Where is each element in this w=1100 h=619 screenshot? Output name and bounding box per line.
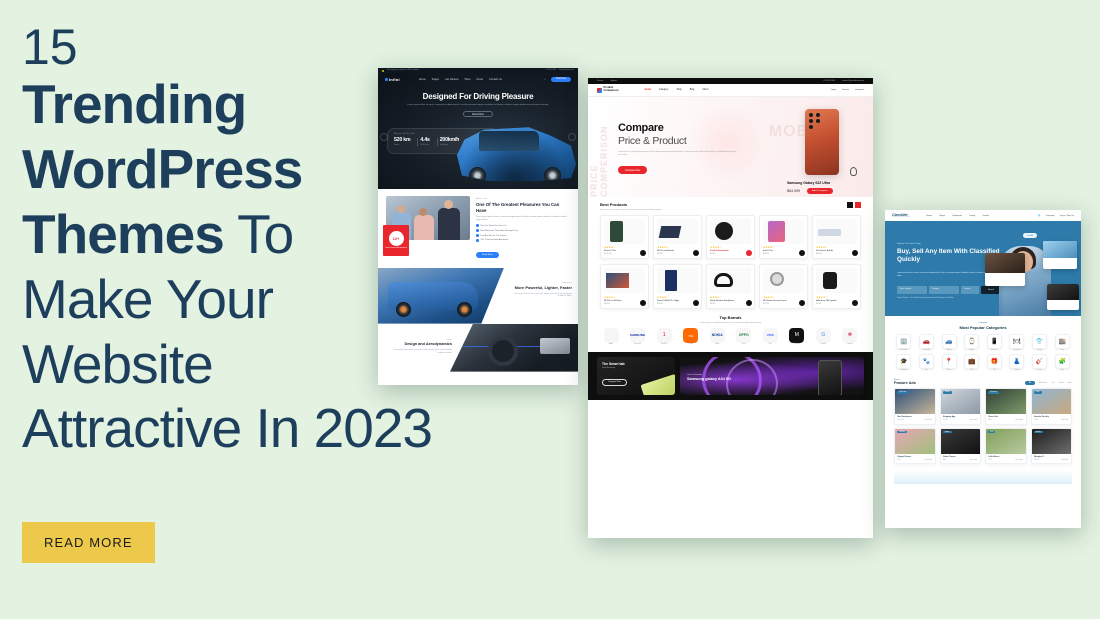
- filter-chip[interactable]: Music: [1068, 382, 1072, 384]
- feature-ad-title: Resto Cafe: [989, 416, 1024, 418]
- feature-ad-tag: Pets: [988, 431, 995, 434]
- search-category-select[interactable]: Category: [929, 286, 959, 294]
- feature-ad-price: $45,000: [1034, 460, 1039, 461]
- feature-ads-filters[interactable]: All Electronics Cars Hotels Music: [1025, 381, 1072, 386]
- cursor-icon: [850, 167, 857, 176]
- best-products-row-2: ★★★★☆MI 108 cm 5A Series$30,999 ★★★★☆Xia…: [600, 264, 861, 309]
- brand-name: Huawei: [839, 344, 861, 345]
- feature-ad-action[interactable]: View Details: [970, 420, 978, 421]
- phone-camera-icon: [809, 113, 821, 129]
- brand-item[interactable]: Apple: [600, 328, 622, 346]
- product-image: [816, 219, 857, 244]
- search-keyword-input[interactable]: Enter Keyword: [897, 286, 927, 294]
- feature-ad-image: Leisure: [941, 429, 981, 454]
- product-name: Infinity Wireless Headphones: [710, 300, 751, 302]
- product-price: $64,990: [657, 253, 698, 255]
- product-price: $2,380: [816, 303, 857, 305]
- category-item[interactable]: 🧩Other: [1052, 354, 1072, 371]
- test-drive-button[interactable]: Test Drive: [551, 77, 571, 82]
- cart-icon[interactable]: [746, 300, 752, 306]
- category-item[interactable]: 🏢Real Estate: [894, 334, 914, 351]
- brand-item[interactable]: miXiaomi: [680, 328, 702, 346]
- car-performance-image: [378, 268, 504, 324]
- hero-listing-card: [1043, 241, 1077, 269]
- car-performance-section: Performance More Powerful, Lighter, Fast…: [378, 268, 578, 324]
- cart-icon[interactable]: [693, 250, 699, 256]
- category-item[interactable]: 🎸Leisure: [1030, 354, 1050, 371]
- compare-search-link[interactable]: Search: [842, 89, 849, 91]
- car-interior-eyebrow: Interior: [390, 339, 452, 341]
- promo-phone-eyebrow: Launch Tomorrow: [687, 374, 731, 376]
- cart-icon[interactable]: [640, 250, 646, 256]
- car-about-section: About Us One Of The Greatest Pleasures Y…: [378, 189, 578, 266]
- classified-hero-text: Lorem ipsum dolor sit amet, consectetur …: [897, 272, 993, 278]
- classified-navbar[interactable]: ClassiNetCLASSIFIED ADS Home Pages Categ…: [885, 210, 1081, 221]
- cart-icon[interactable]: [852, 300, 858, 306]
- product-card[interactable]: ★★★★☆MI 108 cm 5A Series$30,999: [600, 264, 649, 309]
- category-item[interactable]: 🚙Vehicles: [939, 334, 959, 351]
- product-image: [657, 219, 698, 244]
- feature-ad-image: Restaurant: [986, 389, 1026, 414]
- promo-tab-card[interactable]: The Smart tab From Samsung Compare Now: [597, 357, 675, 395]
- feature-ad-image: Vehicles: [1032, 429, 1072, 454]
- category-name: Leisure: [1030, 370, 1050, 371]
- classified-logo[interactable]: ClassiNetCLASSIFIED ADS: [892, 213, 911, 218]
- promo-tab-title: The Smart tab: [602, 362, 670, 366]
- feature-ad-title: Nice Residences: [898, 416, 933, 418]
- category-icon: 🍽: [1009, 334, 1024, 349]
- product-price: $64,999: [763, 253, 804, 255]
- compare-compare-link[interactable]: Compare: [855, 89, 864, 91]
- classified-nav-item[interactable]: Listing: [969, 215, 975, 217]
- car-stat: 200km/hTop Speed: [440, 137, 464, 146]
- product-rating: ★★★★☆: [816, 246, 857, 249]
- brand-item[interactable]: SAMSUNGSamsung: [627, 328, 649, 346]
- brand-name: Vivo: [759, 344, 781, 345]
- classified-footer-band: [894, 470, 1072, 484]
- compare-topbar-mail: contact@yourdomain.com: [842, 80, 864, 82]
- feature-ad-card[interactable]: PetsLittle Kittens$250View Details: [985, 428, 1027, 465]
- product-card[interactable]: ★★★★☆Star Inverter Split Ac$41,990: [812, 215, 861, 260]
- category-name: Gift: [985, 370, 1005, 371]
- feature-ad-title: Shopping App: [943, 416, 978, 418]
- compare-topbar-phone: +1 86 000 000: [823, 80, 835, 82]
- compare-nav-item[interactable]: Blog: [690, 89, 695, 91]
- brand-name: Nokia: [706, 344, 728, 345]
- compare-logo-line2: Comparison: [604, 89, 619, 92]
- car-about-list-item: Fast And Secure Car Service: [476, 234, 570, 237]
- car-nav-item[interactable]: Home: [419, 78, 426, 81]
- feature-ad-card[interactable]: LeisureGuitar Classes$300View Details: [940, 428, 982, 465]
- headline-number: 15: [22, 22, 542, 72]
- product-name: MI 108 cm 5A Series: [604, 300, 645, 302]
- product-card[interactable]: ★★★★☆iPhone 13 Pro$1,29,900: [600, 215, 649, 260]
- product-price: $12,999: [763, 303, 804, 305]
- category-item[interactable]: 🎓Education: [894, 354, 914, 371]
- category-name: Jobs: [962, 370, 982, 371]
- car-stat-value: 200km/h: [440, 137, 459, 143]
- cart-icon[interactable]: [746, 250, 752, 256]
- car-about-text: Lorem ipsum dolor sit amet, consectetur …: [476, 216, 570, 222]
- brand-item[interactable]: MMotorola: [786, 328, 808, 346]
- feature-ad-price: $250: [989, 460, 992, 461]
- product-image: [710, 268, 751, 293]
- car-stat-label: 0-100 km/h: [420, 144, 429, 146]
- compare-topbar-item[interactable]: Service: [597, 80, 603, 82]
- top-brands-title: Top Brands: [600, 315, 861, 320]
- product-name: Ipad 14 Pro: [763, 250, 804, 252]
- category-item[interactable]: 👕Laundry: [1030, 334, 1050, 351]
- categories-grid: 🏢Real Estate 🚗Cars & Bids 🚙Vehicles ⌚Gad…: [894, 334, 1072, 371]
- category-name: Other: [1052, 370, 1072, 371]
- car-topbar-text: Free shipping on orders over $200 worldw…: [387, 70, 419, 71]
- feature-ad-price: $1,200: [943, 420, 947, 421]
- category-item[interactable]: 🎁Gift: [985, 354, 1005, 371]
- brand-icon: 1: [657, 328, 672, 343]
- feature-ad-action[interactable]: View Details: [970, 460, 978, 461]
- brand-name: Apple: [600, 344, 622, 345]
- feature-ad-tag: Services: [943, 391, 953, 394]
- car-nav-list[interactable]: Home Pages Car Review Shop News Contact …: [419, 78, 502, 81]
- car-nav-item[interactable]: News: [477, 78, 484, 81]
- product-image: [657, 268, 698, 293]
- feature-ad-action[interactable]: View Details: [1015, 420, 1023, 421]
- promo-tab-sub: From Samsung: [602, 367, 670, 369]
- compare-hero: PRICE COMPERISON MOBILE ComparePrice & P…: [588, 97, 873, 197]
- category-icon: 🧩: [1055, 354, 1070, 369]
- car-interior-section: Interior Design and Aerodynamics Lorem i…: [378, 324, 578, 372]
- compare-featured-phone-image: [805, 109, 839, 175]
- search-button[interactable]: Search: [981, 286, 1001, 294]
- add-to-compare-button[interactable]: Add To Compare: [807, 188, 833, 194]
- product-image: [604, 219, 645, 244]
- filter-chip[interactable]: Cars: [1051, 382, 1055, 384]
- brand-item[interactable]: vivoVivo: [759, 328, 781, 346]
- category-icon: 💼: [964, 354, 979, 369]
- feature-ad-price: $300: [943, 460, 946, 461]
- brand-name: Oppo: [733, 344, 755, 345]
- best-products-section: Best Products Lorem ipsum is simply dumm…: [588, 197, 873, 309]
- product-image: [763, 268, 804, 293]
- compare-nav-item[interactable]: Shop: [676, 89, 681, 91]
- compare-topbar-item[interactable]: Support: [610, 80, 617, 82]
- category-name: Vehicles: [939, 350, 959, 351]
- product-rating: ★★★★☆: [763, 296, 804, 299]
- feature-ad-image: Gift Shop: [895, 429, 935, 454]
- category-icon: 🐾: [919, 354, 934, 369]
- feature-ad-image: Services: [941, 389, 981, 414]
- category-item[interactable]: 🚗Cars & Bids: [917, 334, 937, 351]
- car-nav-item[interactable]: Shop: [464, 78, 470, 81]
- car-stat: 520 kmRange: [394, 137, 415, 146]
- car-about-list-item: 24/7 Premium Road Assistance: [476, 239, 570, 242]
- product-card[interactable]: ★★★★☆boAt Stone 180 Speaker$2,380: [812, 264, 861, 309]
- feature-ad-card[interactable]: Gift ShopElegant Flowers$120View Details: [894, 428, 936, 465]
- car-about-copy: About Us One Of The Greatest Pleasures Y…: [476, 196, 570, 260]
- category-name: Real Estate: [894, 350, 914, 351]
- classified-feature-ads-section: Browse Feature Ads All Electronics Cars …: [885, 376, 1081, 470]
- category-icon: 🚗: [919, 334, 934, 349]
- car-stat: 4.4s0-100 km/h: [420, 137, 434, 146]
- compare-nav-item[interactable]: About: [702, 89, 708, 91]
- brand-item[interactable]: GGoogle: [812, 328, 834, 346]
- filter-chip[interactable]: Electronics: [1039, 382, 1047, 384]
- brand-name: Google: [812, 344, 834, 345]
- product-card[interactable]: ★★★★☆Infinity Wireless Headphones$8,380: [706, 264, 755, 309]
- promo-tab-cta[interactable]: Compare Now: [602, 379, 627, 386]
- promo-phone-title: Samsung galaxy A34 5G: [687, 377, 731, 381]
- cart-icon[interactable]: [799, 300, 805, 306]
- car-performance-text: Lorem ipsum dolor sit amet consectetur a…: [510, 293, 572, 298]
- brand-icon: vivo: [763, 328, 778, 343]
- car-logo-text: Infini: [389, 77, 400, 82]
- product-price: $1,29,900: [604, 253, 645, 255]
- feature-ad-action[interactable]: View Details: [924, 420, 932, 421]
- compare-hero-title-bold: Compare: [618, 122, 664, 134]
- brand-icon: mi: [683, 328, 698, 343]
- carousel-next-icon[interactable]: [568, 133, 576, 141]
- feature-ad-tag: Vehicles: [1034, 431, 1044, 434]
- compare-nav-item[interactable]: Home: [645, 89, 651, 91]
- best-products-row-1: ★★★★☆iPhone 13 Pro$1,29,900 ★★★★☆HP Vict…: [600, 215, 861, 260]
- promo-tab-image: [640, 374, 675, 395]
- feature-ad-price: $120: [898, 460, 901, 461]
- car-navbar[interactable]: Infini Home Pages Car Review Shop News C…: [378, 73, 578, 85]
- headline-line-3-light: To: [224, 203, 293, 265]
- category-item[interactable]: 🐾Pets: [917, 354, 937, 371]
- compare-hero-title: ComparePrice & Product: [618, 122, 738, 147]
- filter-chip[interactable]: Hotels: [1059, 382, 1064, 384]
- category-icon: 👕: [1032, 334, 1047, 349]
- feature-ads-title: Feature Ads: [894, 381, 916, 385]
- product-name: HK Xiaomi Security Camera: [763, 300, 804, 302]
- product-card[interactable]: ★★★★☆Pro Bolt Smartwatch$4,380: [706, 215, 755, 260]
- compare-logo[interactable]: ProductComparison: [597, 87, 619, 93]
- car-wheel: [544, 167, 561, 184]
- product-name: Pro Bolt Smartwatch: [710, 250, 751, 252]
- category-icon: 🏬: [1055, 334, 1070, 349]
- cart-icon[interactable]: [640, 300, 646, 306]
- category-icon: 🏢: [896, 334, 911, 349]
- category-item[interactable]: 📱Electronics: [985, 334, 1005, 351]
- login-signup-link[interactable]: Log In / Sign Up: [1060, 215, 1074, 217]
- feature-ad-title: Wrangler Jl: [1034, 456, 1069, 458]
- feature-ad-card[interactable]: RestaurantResto Cafe$850View Details: [985, 388, 1027, 425]
- brand-item[interactable]: ✻Huawei: [839, 328, 861, 346]
- feature-ad-card[interactable]: ServicesShopping App$1,200View Details: [940, 388, 982, 425]
- category-item[interactable]: 👗Fashion: [1007, 354, 1027, 371]
- categories-title: Most Popular Categories: [894, 325, 1072, 330]
- category-icon: 🚙: [942, 334, 957, 349]
- category-item[interactable]: 💼Jobs: [962, 354, 982, 371]
- category-icon: 📍: [942, 354, 957, 369]
- cart-icon[interactable]: [799, 250, 805, 256]
- experience-badge-text: Years of trust and experience: [385, 247, 407, 249]
- feature-ad-title: Little Kittens: [989, 456, 1024, 458]
- prev-icon[interactable]: [847, 202, 853, 208]
- product-name: boAt Stone 180 Speaker: [816, 300, 857, 302]
- product-image: [763, 219, 804, 244]
- category-name: Cars & Bids: [917, 350, 937, 351]
- category-icon: 👗: [1009, 354, 1024, 369]
- category-name: Education: [894, 370, 914, 371]
- classified-nav-item[interactable]: Pages: [939, 215, 945, 217]
- car-hero-cta[interactable]: Read More: [463, 111, 493, 117]
- car-about-title: One Of The Greatest Pleasures You Can Ha…: [476, 202, 570, 213]
- car-nav-item[interactable]: Pages: [432, 78, 439, 81]
- car-hero-title: Designed For Driving Pleasure: [378, 92, 578, 101]
- product-card[interactable]: ★★★★☆Ipad 14 Pro$64,999: [759, 215, 808, 260]
- experience-badge: 12+ Years of trust and experience: [383, 225, 409, 256]
- brand-item[interactable]: NOKIANokia: [706, 328, 728, 346]
- best-products-arrows[interactable]: [847, 202, 861, 208]
- search-icon[interactable]: ⌕: [544, 77, 546, 81]
- classified-hero-eyebrow: Explore The Best Things: [897, 243, 921, 245]
- banner-canvas: 15 Trending WordPress Themes To Make You…: [0, 0, 1100, 619]
- car-about-list-item: Best Car Rental For Your Car: [476, 224, 570, 227]
- experience-badge-number: 12+: [389, 231, 404, 246]
- promo-phone-card[interactable]: Launch Tomorrow Samsung galaxy A34 5G: [680, 357, 864, 395]
- car-hero-subtitle: Lorem ipsum dolor sit amet, consectetur …: [404, 104, 552, 107]
- compare-nav-item[interactable]: Category: [659, 89, 668, 91]
- brand-name: Motorola: [786, 344, 808, 345]
- car-stat-value: 520 km: [394, 137, 410, 143]
- feature-ad-tag: Gift Shop: [897, 431, 907, 434]
- car-logo[interactable]: Infini: [385, 77, 400, 82]
- topbar-dot-icon: [382, 70, 384, 72]
- car-performance-eyebrow: Performance: [510, 282, 572, 284]
- product-card[interactable]: ★★★★☆HK Xiaomi Security Camera$12,999: [759, 264, 808, 309]
- car-topbar-phone: +1 234 567 890: [545, 70, 556, 71]
- car-logo-icon: [385, 78, 388, 81]
- top-brands-row: Apple SAMSUNGSamsung 1OnePlus miXiaomi N…: [600, 328, 861, 346]
- category-icon: 🎁: [987, 354, 1002, 369]
- next-icon[interactable]: [855, 202, 861, 208]
- compare-now-button[interactable]: Compare Now: [618, 166, 647, 174]
- feature-ad-card[interactable]: VehiclesWrangler Jl$45,000View Details: [1031, 428, 1073, 465]
- hero-listing-card: [1047, 284, 1079, 310]
- search-location-input[interactable]: Location: [961, 286, 979, 294]
- mockup-classified[interactable]: ClassiNetCLASSIFIED ADS Home Pages Categ…: [885, 210, 1081, 528]
- brand-item[interactable]: OPPOOppo: [733, 328, 755, 346]
- car-interior-title: Design and Aerodynamics: [390, 342, 452, 347]
- category-icon: 🎓: [896, 354, 911, 369]
- top-brands-section: Top Brands Lorem ipsum is simply dummy t…: [588, 309, 873, 345]
- best-products-title: Best Products: [600, 202, 661, 207]
- product-price: $8,380: [710, 303, 751, 305]
- compare-logo-icon: [597, 88, 602, 93]
- classified-nav-item[interactable]: Categories: [952, 215, 962, 217]
- feature-ad-title: Elegant Flowers: [898, 456, 933, 458]
- feature-ad-action[interactable]: View Details: [1015, 460, 1023, 461]
- product-rating: ★★★★☆: [763, 246, 804, 249]
- feature-ad-action[interactable]: View Details: [1061, 460, 1069, 461]
- product-price: $41,990: [816, 253, 857, 255]
- compare-login-link[interactable]: Login: [831, 89, 836, 91]
- compare-nav-list[interactable]: Home Category Shop Blog About: [645, 89, 709, 91]
- car-stat-label: Range: [394, 144, 410, 146]
- category-item[interactable]: ⌚Gadgets: [962, 334, 982, 351]
- car-about-eyebrow: About Us: [476, 198, 570, 200]
- brand-item[interactable]: 1OnePlus: [653, 328, 675, 346]
- cart-icon[interactable]: [693, 300, 699, 306]
- compare-hero-text: Lorem ipsum is simply dummy text of the …: [618, 151, 738, 158]
- classified-nav-item[interactable]: Contact: [982, 215, 989, 217]
- categories-eyebrow: Categories: [894, 322, 1072, 324]
- compare-featured-price: $64,999: [787, 189, 800, 193]
- mockup-product-comparison[interactable]: Service Support +1 86 000 000 contact@yo…: [588, 78, 873, 538]
- category-icon: 📱: [987, 334, 1002, 349]
- product-rating: ★★★★☆: [710, 246, 751, 249]
- classified-search-bar[interactable]: Enter Keyword Category Location Search: [897, 286, 1001, 294]
- category-name: Fashion: [1007, 370, 1027, 371]
- category-item[interactable]: 🏬Store: [1052, 334, 1072, 351]
- classified-nav-item[interactable]: Home: [927, 215, 933, 217]
- car-topbar-mail: info@autodealer.com: [559, 70, 574, 71]
- brand-icon: OPPO: [736, 328, 751, 343]
- post-ad-button[interactable]: Post Ad: [1023, 233, 1037, 238]
- category-icon: 🎸: [1032, 354, 1047, 369]
- feature-ad-price: $850: [989, 420, 992, 421]
- brand-icon: M: [789, 328, 804, 343]
- category-name: Gadgets: [962, 350, 982, 351]
- product-card[interactable]: ★★★★☆Xiaomi 198LA 3 Dr. Fridge$34,990: [653, 264, 702, 309]
- classified-nav-list[interactable]: Home Pages Categories Listing Contact: [927, 215, 990, 217]
- read-more-button[interactable]: READ MORE: [22, 522, 155, 563]
- compare-navbar[interactable]: ProductComparison Home Category Shop Blo…: [588, 84, 873, 97]
- car-nav-item[interactable]: Car Review: [445, 78, 458, 81]
- category-name: Electronics: [985, 350, 1005, 351]
- product-rating: ★★★★☆: [604, 246, 645, 249]
- feature-ad-title: Guitar Classes: [943, 456, 978, 458]
- car-about-list-item: Most Advanced Tires Better Average Price: [476, 229, 570, 232]
- category-item[interactable]: 📍Places: [939, 354, 959, 371]
- product-price: $30,999: [604, 303, 645, 305]
- brand-name: Xiaomi: [680, 344, 702, 345]
- language-selector[interactable]: Language: [1046, 215, 1055, 217]
- feature-ad-action[interactable]: View Details: [1061, 420, 1069, 421]
- product-price: $34,990: [657, 303, 698, 305]
- car-about-cta[interactable]: Read More: [476, 252, 499, 258]
- product-price: $4,380: [710, 253, 751, 255]
- classified-hero: Explore The Best Things Buy, Sell Any It…: [885, 221, 1081, 316]
- globe-icon: 🌐: [1038, 215, 1041, 217]
- car-hero: Infini Home Pages Car Review Shop News C…: [378, 73, 578, 189]
- feature-ad-image: Real Estate: [895, 389, 935, 414]
- feature-ad-action[interactable]: View Details: [924, 460, 932, 461]
- popular-search-text: Popular Search : Car, Real Estate, Resta…: [897, 297, 954, 299]
- classified-logo-sub: CLASSIFIED ADS: [892, 217, 911, 218]
- product-rating: ★★★★☆: [657, 246, 698, 249]
- product-name: Star Inverter Split Ac: [816, 250, 857, 252]
- compare-vertical-text: PRICE COMPERISON: [589, 103, 609, 197]
- category-name: Laundry: [1030, 350, 1050, 351]
- feature-ads-grid-row-1: Real EstateNice Residences$2,50,000View …: [894, 388, 1072, 425]
- feature-ad-card[interactable]: TravelVacation For Italy$3,400View Detai…: [1031, 388, 1073, 425]
- cart-icon[interactable]: [852, 250, 858, 256]
- feature-ad-price: $3,400: [1034, 420, 1038, 421]
- feature-ad-card[interactable]: Real EstateNice Residences$2,50,000View …: [894, 388, 936, 425]
- car-nav-item[interactable]: Contact Us: [489, 78, 502, 81]
- car-interior-image: [450, 324, 578, 372]
- product-name: iPhone 13 Pro: [604, 250, 645, 252]
- mockup-car-theme[interactable]: Free shipping on orders over $200 worldw…: [378, 68, 578, 385]
- category-name: Store: [1052, 350, 1072, 351]
- filter-chip[interactable]: All: [1025, 381, 1035, 386]
- product-card[interactable]: ★★★★☆HP Victus Notebook$64,990: [653, 215, 702, 260]
- category-item[interactable]: 🍽Restaurant: [1007, 334, 1027, 351]
- compare-featured-name: Samsung Galaxy S22 Ultra: [787, 181, 861, 185]
